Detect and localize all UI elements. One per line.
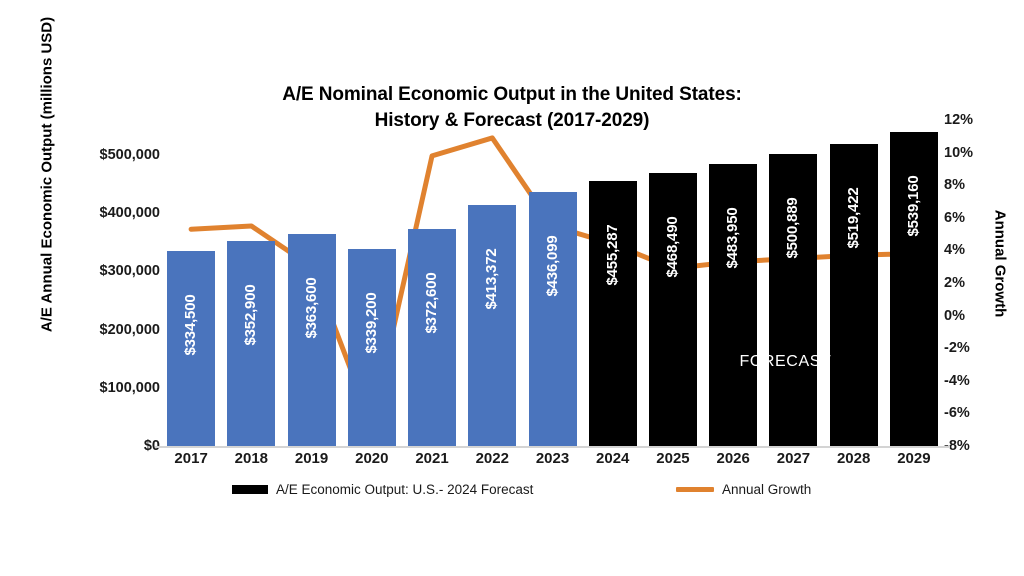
- x-tick-2026: 2026: [717, 450, 750, 467]
- bar-2019[interactable]: [288, 234, 336, 446]
- legend-label: Annual Growth: [722, 482, 811, 497]
- y-tick-right-1: 10%: [944, 145, 996, 161]
- y-tick-left-5: $500,000: [60, 147, 160, 163]
- x-axis-baseline: [155, 446, 950, 448]
- x-tick-2029: 2029: [897, 450, 930, 467]
- y-tick-right-4: 4%: [944, 242, 996, 258]
- y-tick-right-3: 6%: [944, 210, 996, 226]
- bar-2018[interactable]: [227, 241, 275, 446]
- x-tick-2027: 2027: [777, 450, 810, 467]
- bar-2027[interactable]: [769, 154, 817, 446]
- x-tick-2022: 2022: [476, 450, 509, 467]
- y-tick-right-7: -2%: [944, 340, 996, 356]
- x-tick-2019: 2019: [295, 450, 328, 467]
- bar-2022[interactable]: [468, 205, 516, 446]
- chart-legend: A/E Economic Output: U.S.- 2024 Forecast…: [0, 482, 1024, 504]
- y-tick-right-5: 2%: [944, 275, 996, 291]
- y-tick-right-9: -6%: [944, 405, 996, 421]
- y-tick-left-4: $400,000: [60, 205, 160, 221]
- x-tick-2025: 2025: [656, 450, 689, 467]
- y-tick-right-6: 0%: [944, 308, 996, 324]
- bar-2023[interactable]: [529, 192, 577, 446]
- bar-2017[interactable]: [167, 251, 215, 446]
- x-tick-2023: 2023: [536, 450, 569, 467]
- x-tick-2028: 2028: [837, 450, 870, 467]
- y-tick-right-0: 12%: [944, 112, 996, 128]
- bar-2025[interactable]: [649, 173, 697, 446]
- bar-2026[interactable]: [709, 164, 757, 446]
- bar-2020[interactable]: [348, 249, 396, 446]
- bar-2021[interactable]: [408, 229, 456, 446]
- y-tick-left-3: $300,000: [60, 263, 160, 279]
- chart-title-line1: A/E Nominal Economic Output in the Unite…: [282, 84, 742, 105]
- y-tick-right-10: -8%: [944, 438, 996, 454]
- y-tick-right-8: -4%: [944, 373, 996, 389]
- chart-container: A/E Nominal Economic Output in the Unite…: [0, 0, 1024, 576]
- legend-label: A/E Economic Output: U.S.- 2024 Forecast: [276, 482, 533, 497]
- bar-2029[interactable]: [890, 132, 938, 446]
- forecast-annotation: FORECAST: [739, 353, 831, 371]
- x-tick-2018: 2018: [235, 450, 268, 467]
- x-tick-2024: 2024: [596, 450, 629, 467]
- legend-item-1[interactable]: A/E Economic Output: U.S.- 2024 Forecast: [232, 482, 533, 497]
- x-tick-2021: 2021: [415, 450, 448, 467]
- x-tick-2020: 2020: [355, 450, 388, 467]
- legend-bar-swatch-icon: [232, 485, 268, 494]
- legend-item-2[interactable]: Annual Growth: [676, 482, 811, 497]
- bar-2028[interactable]: [830, 144, 878, 446]
- y-tick-left-1: $100,000: [60, 380, 160, 396]
- y-tick-right-2: 8%: [944, 177, 996, 193]
- y-tick-left-0: $0: [60, 438, 160, 454]
- legend-line-swatch-icon: [676, 487, 714, 492]
- bar-2024[interactable]: [589, 181, 637, 446]
- y-tick-left-2: $200,000: [60, 322, 160, 338]
- x-tick-2017: 2017: [174, 450, 207, 467]
